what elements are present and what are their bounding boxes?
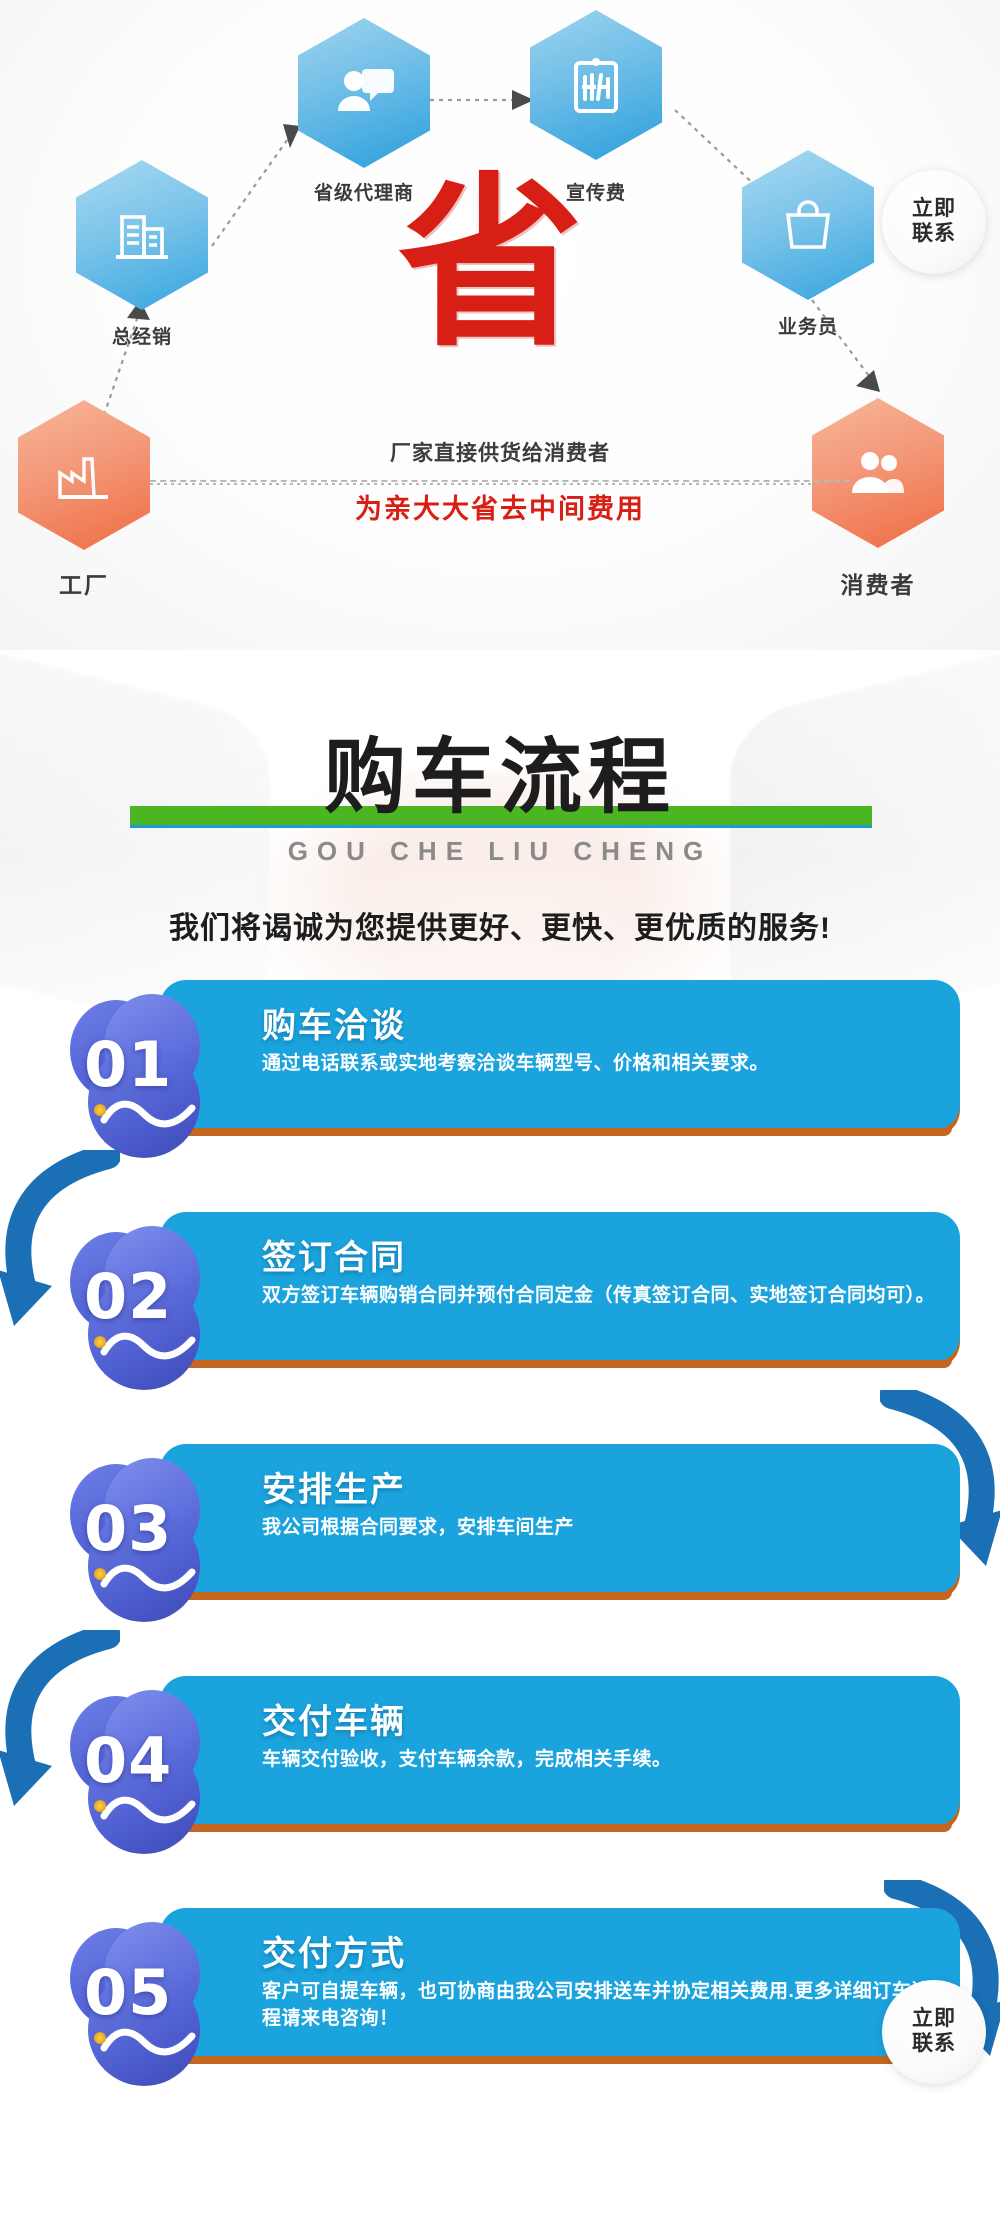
badge-wave-icon [100,1794,196,1828]
diagram-divider [150,480,850,482]
building-icon [110,203,174,267]
badge-wave-icon [100,1098,196,1132]
step-badge: 05 [70,1922,240,2072]
step-title: 购车洽谈 [262,998,942,1047]
process-step[interactable]: 02 签订合同 双方签订车辆购销合同并预付合同定金（传真签订合同、实地签订合同均… [0,1212,1000,1372]
contact-line-1: 立即 [912,197,956,222]
process-step[interactable]: 04 交付车辆 车辆交付验收，支付车辆余款，完成相关手续。 [0,1676,1000,1836]
shopping-bag-icon [776,193,840,257]
diagram-subtitle-black: 厂家直接供货给消费者 [0,437,1000,467]
step-text: 交付方式 客户可自提车辆，也可协商由我公司安排送车并协定相关费用.更多详细订车流… [262,1926,942,2033]
badge-sparkle-icon [94,1568,106,1580]
step-text: 安排生产 我公司根据合同要求，安排车间生产 [262,1462,942,1542]
badge-sparkle-icon [94,1104,106,1116]
step-badge: 02 [70,1226,240,1376]
process-step-list: 01 购车洽谈 通过电话联系或实地考察洽谈车辆型号、价格和相关要求。 [0,980,1000,2140]
contact-now-button-bottom[interactable]: 立即 联系 [882,1980,986,2084]
step-title: 交付方式 [262,1926,942,1975]
process-slogan: 我们将谒诚为您提供更好、更快、更优质的服务! [0,903,1000,947]
diagram-label-salesman: 业务员 [742,312,874,339]
step-title: 安排生产 [262,1462,942,1511]
step-title: 交付车辆 [262,1694,942,1743]
process-title: 购车流程 [0,710,1000,829]
diagram-label-distributor: 总经销 [76,322,208,349]
diagram-subtitle-red: 为亲大大省去中间费用 [0,487,1000,526]
contact-line-2: 联系 [912,222,956,247]
step-description: 我公司根据合同要求，安排车间生产 [262,1515,942,1542]
diagram-label-factory: 工厂 [18,566,150,600]
step-badge: 01 [70,994,240,1144]
promo-page: 省级代理商 宣传费 总经销 [0,0,1000,2238]
badge-sparkle-icon [94,1800,106,1812]
clipboard-approve-icon [564,53,628,117]
step-number: 05 [84,1956,234,2029]
step-description: 双方签订车辆购销合同并预付合同定金（传真签订合同、实地签订合同均可）。 [262,1283,942,1310]
step-badge: 03 [70,1458,240,1608]
agent-chat-icon [332,61,396,125]
step-number: 03 [84,1492,234,1565]
process-step[interactable]: 01 购车洽谈 通过电话联系或实地考察洽谈车辆型号、价格和相关要求。 [0,980,1000,1140]
step-description: 通过电话联系或实地考察洽谈车辆型号、价格和相关要求。 [262,1051,942,1078]
diagram-label-consumer: 消费者 [812,566,944,600]
big-save-character: 省 [398,172,583,357]
step-badge: 04 [70,1690,240,1840]
badge-wave-icon [100,1562,196,1596]
badge-wave-icon [100,1330,196,1364]
step-text: 购车洽谈 通过电话联系或实地考察洽谈车辆型号、价格和相关要求。 [262,998,942,1078]
process-step[interactable]: 03 安排生产 我公司根据合同要求，安排车间生产 [0,1444,1000,1604]
step-text: 交付车辆 车辆交付验收，支付车辆余款，完成相关手续。 [262,1694,942,1774]
step-description: 客户可自提车辆，也可协商由我公司安排送车并协定相关费用.更多详细订车流程请来电咨… [262,1979,942,2033]
contact-line-2: 联系 [912,2032,956,2057]
step-text: 签订合同 双方签订车辆购销合同并预付合同定金（传真签订合同、实地签订合同均可）。 [262,1230,942,1310]
step-number: 01 [84,1028,234,1101]
contact-line-1: 立即 [912,2007,956,2032]
badge-sparkle-icon [94,2032,106,2044]
step-title: 签订合同 [262,1230,942,1279]
step-number: 02 [84,1260,234,1333]
step-number: 04 [84,1724,234,1797]
badge-sparkle-icon [94,1336,106,1348]
contact-now-button-top[interactable]: 立即 联系 [882,170,986,274]
buying-process-section: 购车流程 GOU CHE LIU CHENG 我们将谒诚为您提供更好、更快、更优… [0,650,1000,2238]
process-pinyin: GOU CHE LIU CHENG [0,836,1000,867]
step-description: 车辆交付验收，支付车辆余款，完成相关手续。 [262,1747,942,1774]
badge-wave-icon [100,2026,196,2060]
process-step[interactable]: 05 交付方式 客户可自提车辆，也可协商由我公司安排送车并协定相关费用.更多详细… [0,1908,1000,2068]
distribution-diagram-section: 省级代理商 宣传费 总经销 [0,0,1000,650]
